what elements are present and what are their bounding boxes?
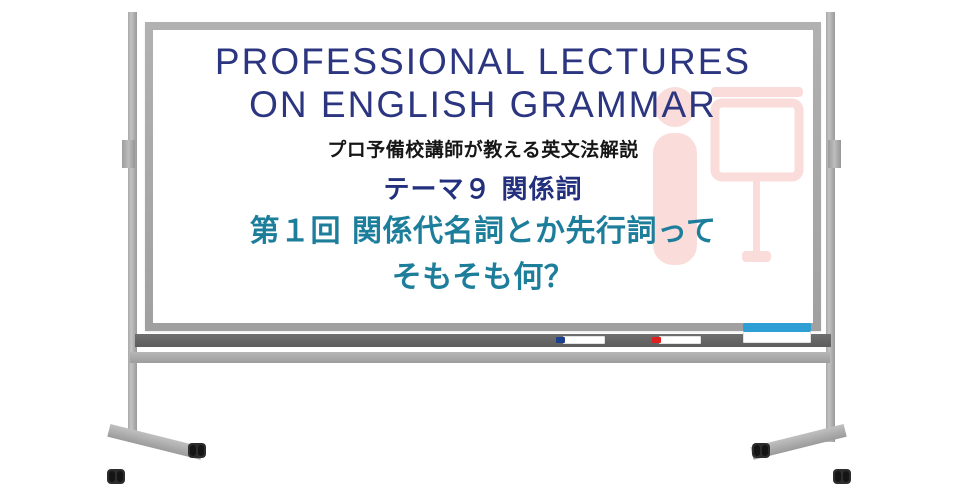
- blue-marker-cap: [556, 337, 565, 343]
- stand-crossbar: [130, 352, 830, 363]
- marker-tray: [135, 334, 831, 347]
- blue-eraser: [743, 328, 811, 343]
- whiteboard-surface: PROFESSIONAL LECTURES ON ENGLISH GRAMMAR…: [153, 30, 813, 323]
- caster-wheel-front-left: [107, 469, 125, 484]
- english-title-line-2: ON ENGLISH GRAMMAR: [153, 83, 813, 126]
- whiteboard-post-right: [826, 12, 835, 442]
- japanese-subtitle: プロ予備校講師が教える英文法解説: [153, 135, 813, 162]
- lesson-title-line-1: 第１回 関係代名詞とか先行詞って: [153, 212, 813, 252]
- whiteboard-post-left: [128, 12, 137, 442]
- blue-marker: [563, 336, 605, 344]
- red-marker-cap: [652, 337, 661, 343]
- caster-wheel-front-right: [833, 469, 851, 484]
- lesson-title-line-2: そもそも何？: [153, 258, 813, 298]
- board-text-block: PROFESSIONAL LECTURES ON ENGLISH GRAMMAR…: [153, 40, 813, 298]
- caster-wheel-back-left: [188, 443, 206, 458]
- board-mount-knob-right: [828, 140, 841, 168]
- title-card-canvas: PROFESSIONAL LECTURES ON ENGLISH GRAMMAR…: [0, 0, 960, 501]
- theme-heading: テーマ９ 関係詞: [153, 169, 813, 206]
- whiteboard-frame: PROFESSIONAL LECTURES ON ENGLISH GRAMMAR…: [145, 22, 821, 331]
- red-marker: [659, 336, 701, 344]
- caster-wheel-back-right: [752, 443, 770, 458]
- board-mount-knob-left: [122, 140, 135, 168]
- english-title-line-1: PROFESSIONAL LECTURES: [153, 40, 813, 83]
- eraser-pad: [743, 323, 811, 332]
